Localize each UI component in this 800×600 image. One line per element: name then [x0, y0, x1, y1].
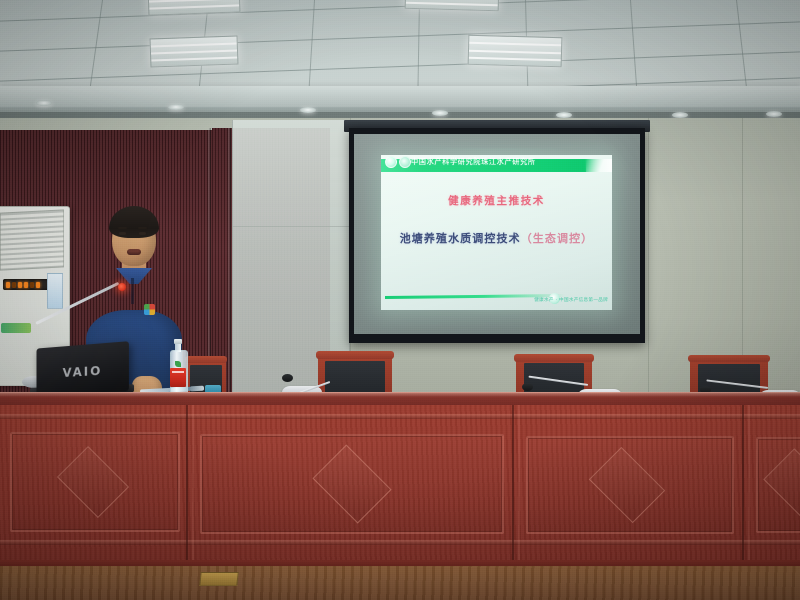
desk-diamond-inlay	[312, 444, 391, 523]
bottle-leaf-icon	[175, 361, 181, 367]
presenter-eye	[119, 232, 126, 235]
desk-diamond-inlay	[57, 446, 129, 518]
desk-surface-highlight	[0, 392, 800, 397]
wall-seam	[648, 118, 649, 400]
wall-panel-edge	[228, 128, 231, 396]
slide-header-organization: 中国水产科学研究院珠江水产研究所	[411, 156, 536, 167]
water-bottle[interactable]	[170, 341, 186, 395]
conference-room-photo: 中国水产科学研究院珠江水产研究所 健康养殖主推技术 池塘养殖水质调控技术（生态调…	[0, 0, 800, 600]
desk-rail	[0, 540, 800, 545]
laptop[interactable]: VAIO	[37, 341, 129, 395]
desk-panel	[756, 437, 800, 533]
floor-cable-plate	[199, 572, 238, 586]
desk-diamond-inlay	[763, 448, 800, 522]
desk-panel	[526, 436, 734, 534]
ceiling-light-panel	[150, 35, 239, 67]
institute-logo-icon	[385, 156, 397, 168]
slide-header-logos	[385, 156, 411, 168]
projection-screen: 中国水产科学研究院珠江水产研究所 健康养殖主推技术 池塘养殖水质调控技术（生态调…	[349, 128, 645, 343]
bottle-cap	[174, 339, 182, 344]
slide-subtitle-main: 池塘养殖水质调控技术	[400, 232, 521, 245]
bottle-label	[170, 368, 186, 387]
desk-rail	[0, 414, 800, 419]
ceiling-light-panel	[468, 35, 563, 67]
slide-title: 健康养殖主推技术	[381, 193, 612, 208]
downlight	[168, 104, 184, 110]
floor	[0, 566, 800, 600]
mic-head	[522, 383, 533, 391]
slide-footer-text: 健康水产 · 中国水产信息第一品牌	[534, 297, 608, 303]
presenter-chest-logo-icon	[144, 304, 155, 315]
ac-brand-logo-icon	[1, 323, 31, 333]
chair[interactable]	[318, 351, 392, 395]
ac-led-display	[3, 279, 49, 290]
downlight	[432, 110, 448, 116]
desk-segment-divider	[186, 405, 194, 565]
presenter-eye	[139, 232, 146, 235]
fishery-logo-icon	[399, 156, 411, 168]
presentation-slide: 中国水产科学研究院珠江水产研究所 健康养殖主推技术 池塘养殖水质调控技术（生态调…	[381, 155, 612, 310]
presenter-brow	[138, 227, 147, 229]
mic-indicator-light-icon	[118, 283, 126, 291]
pen-tip	[190, 386, 204, 392]
mic-head	[282, 374, 293, 382]
presenter-brow	[118, 227, 127, 229]
desk-panel	[10, 432, 180, 532]
desk-panel	[200, 434, 504, 534]
presenter-placket	[131, 278, 134, 304]
downlight	[36, 100, 52, 106]
laptop-brand-label: VAIO	[63, 364, 103, 380]
desk-diamond-inlay	[589, 447, 665, 523]
ac-label-sticker	[47, 273, 63, 309]
presenter-mouth	[127, 249, 141, 255]
presenter-collar	[116, 268, 152, 284]
ac-vent-grille	[0, 209, 64, 270]
downlight	[300, 107, 316, 113]
slide-subtitle: 池塘养殖水质调控技术（生态调控）	[381, 230, 612, 246]
desk-segment-divider	[512, 405, 520, 565]
downlight	[766, 111, 782, 117]
desk-segment-divider	[742, 405, 750, 565]
projection-screen-surface: 中国水产科学研究院珠江水产研究所 健康养殖主推技术 池塘养殖水质调控技术（生态调…	[354, 134, 640, 334]
slide-subtitle-paren: （生态调控）	[521, 232, 594, 245]
ceiling	[0, 0, 800, 112]
